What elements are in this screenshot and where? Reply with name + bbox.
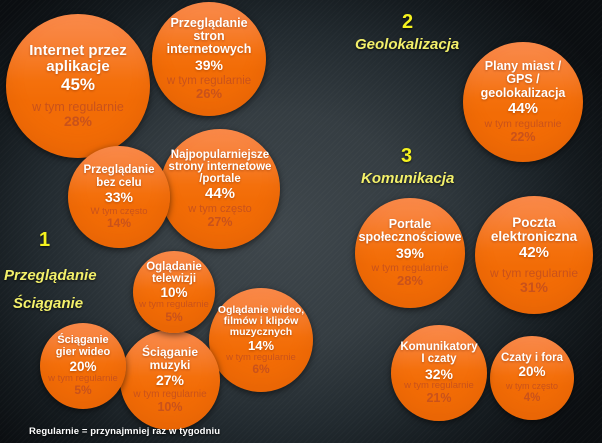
- bubble-value: 44%: [508, 101, 538, 117]
- bubble-value: 45%: [61, 76, 95, 94]
- bubble-title: Oglądanie telewizji: [146, 261, 202, 285]
- bubble-value: 42%: [519, 245, 549, 261]
- bubble-subvalue: 21%: [426, 392, 451, 405]
- bubble-title: Przeglądanie stron internetowych: [167, 17, 252, 57]
- section-number-3: 3: [401, 145, 412, 168]
- bubble-plany-miast-gps[interactable]: Plany miast / GPS / geolokalizacja 44% w…: [463, 42, 583, 162]
- bubble-subvalue: 4%: [524, 392, 541, 404]
- section-number-1: 1: [39, 229, 50, 252]
- bubble-czaty-i-fora[interactable]: Czaty i fora 20% w tym często 4%: [490, 336, 574, 420]
- bubble-subvalue: 28%: [397, 274, 423, 288]
- bubble-najpopularniejsze-strony[interactable]: Najpopularniejsze strony internetowe /po…: [160, 129, 280, 249]
- bubble-subvalue: 5%: [165, 311, 182, 324]
- bubble-value: 33%: [105, 190, 133, 205]
- section-label-przegladanie: Przeglądanie: [4, 267, 97, 284]
- infographic-canvas: Internet przez aplikacje 45% w tym regul…: [0, 0, 602, 443]
- section-label-sciaganie: Ściąganie: [13, 295, 83, 312]
- bubble-value: 14%: [248, 339, 274, 353]
- bubble-subvalue: 6%: [252, 363, 269, 376]
- bubble-value: 39%: [396, 246, 424, 261]
- section-label-geolokalizacja: Geolokalizacja: [355, 36, 459, 53]
- bubble-value: 10%: [160, 286, 187, 300]
- bubble-subvalue: 22%: [510, 131, 535, 144]
- bubble-title: Portale społecznościowe: [359, 218, 462, 245]
- bubble-sublabel: w tym regularnie: [139, 300, 209, 310]
- bubble-sublabel: w tym regularnie: [484, 119, 561, 130]
- bubble-sublabel: w tym regularnie: [490, 267, 578, 280]
- bubble-sublabel: w tym regularnie: [404, 381, 474, 391]
- footer-note: Regularnie = przynajmniej raz w tygodniu: [29, 426, 220, 437]
- bubble-sublabel: w tym regularnie: [32, 101, 124, 114]
- bubble-value: 39%: [195, 58, 223, 73]
- bubble-title: Ściąganie gier wideo: [56, 335, 110, 358]
- bubble-title: Internet przez aplikacje: [29, 43, 127, 75]
- bubble-subvalue: 10%: [157, 401, 182, 414]
- bubble-subvalue: 31%: [520, 280, 548, 295]
- bubble-title: Ściąganie muzyki: [142, 346, 198, 371]
- bubble-portale-spolecznosciowe[interactable]: Portale społecznościowe 39% w tym regula…: [355, 198, 465, 308]
- section-number-2: 2: [402, 11, 413, 34]
- bubble-ogladanie-telewizji[interactable]: Oglądanie telewizji 10% w tym regularnie…: [133, 251, 215, 333]
- bubble-sciaganie-muzyki[interactable]: Ściąganie muzyki 27% w tym regularnie 10…: [120, 330, 220, 430]
- bubble-przegladanie-bez-celu[interactable]: Przeglądanie bez celu 33% W tym często 1…: [68, 146, 170, 248]
- bubble-poczta-elektroniczna[interactable]: Poczta elektroniczna 42% w tym regularni…: [475, 196, 593, 314]
- bubble-title: Komunikatory I czaty: [400, 341, 477, 365]
- bubble-subvalue: 14%: [107, 217, 131, 230]
- bubble-subvalue: 28%: [64, 114, 92, 129]
- bubble-value: 44%: [205, 186, 235, 202]
- bubble-komunikatory-i-czaty[interactable]: Komunikatory I czaty 32% w tym regularni…: [391, 325, 487, 421]
- bubble-subvalue: 26%: [196, 87, 222, 101]
- bubble-title: Poczta elektroniczna: [491, 216, 577, 245]
- bubble-subvalue: 5%: [74, 384, 91, 397]
- bubble-value: 20%: [518, 365, 545, 379]
- bubble-ogladanie-wideo[interactable]: Oglądanie wideo, filmów i klipów muzyczn…: [209, 288, 313, 392]
- bubble-przegladanie-stron-internetowych[interactable]: Przeglądanie stron internetowych 39% w t…: [152, 2, 266, 116]
- bubble-value: 27%: [156, 373, 184, 388]
- bubble-value: 32%: [425, 367, 453, 382]
- bubble-sublabel: w tym regularnie: [133, 390, 206, 401]
- bubble-title: Czaty i fora: [501, 352, 563, 364]
- bubble-sublabel: w tym często: [506, 382, 558, 392]
- bubble-subvalue: 27%: [207, 216, 232, 229]
- bubble-title: Plany miast / GPS / geolokalizacja: [481, 60, 566, 100]
- bubble-title: Oglądanie wideo, filmów i klipów muzyczn…: [218, 305, 304, 338]
- bubble-value: 20%: [69, 360, 96, 374]
- bubble-title: Najpopularniejsze strony internetowe /po…: [169, 149, 272, 186]
- section-label-komunikacja: Komunikacja: [361, 170, 454, 187]
- bubble-title: Przeglądanie bez celu: [84, 164, 155, 188]
- bubble-sciaganie-gier-wideo[interactable]: Ściąganie gier wideo 20% w tym regularni…: [40, 323, 126, 409]
- bubble-internet-przez-aplikacje[interactable]: Internet przez aplikacje 45% w tym regul…: [6, 14, 150, 158]
